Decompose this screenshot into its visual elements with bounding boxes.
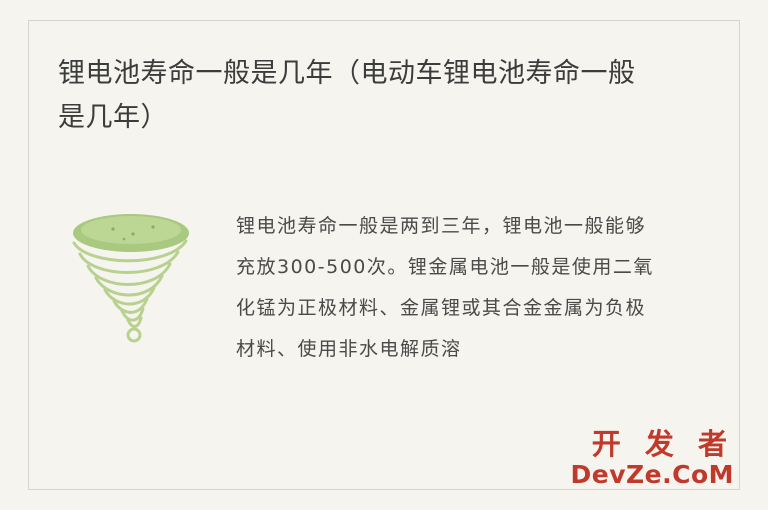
article-paragraph: 锂电池寿命一般是两到三年，锂电池一般能够充放300-500次。锂金属电池一般是使… (228, 196, 666, 370)
article-body-area: 锂电池寿命一般是两到三年，锂电池一般能够充放300-500次。锂金属电池一般是使… (58, 196, 728, 370)
watermark-line-2: DevZe.CoM (571, 462, 734, 488)
watermark-line-1: 开 发 者 (571, 429, 734, 459)
article-header: 锂电池寿命一般是几年（电动车锂电池寿命一般是几年） (58, 52, 710, 140)
document-page: 锂电池寿命一般是几年（电动车锂电池寿命一般是几年） 锂电 (0, 0, 768, 510)
site-watermark: 开 发 者 DevZe.CoM (571, 429, 734, 488)
page-title: 锂电池寿命一般是几年（电动车锂电池寿命一般是几年） (58, 52, 658, 140)
green-tornado-illustration (58, 196, 228, 356)
